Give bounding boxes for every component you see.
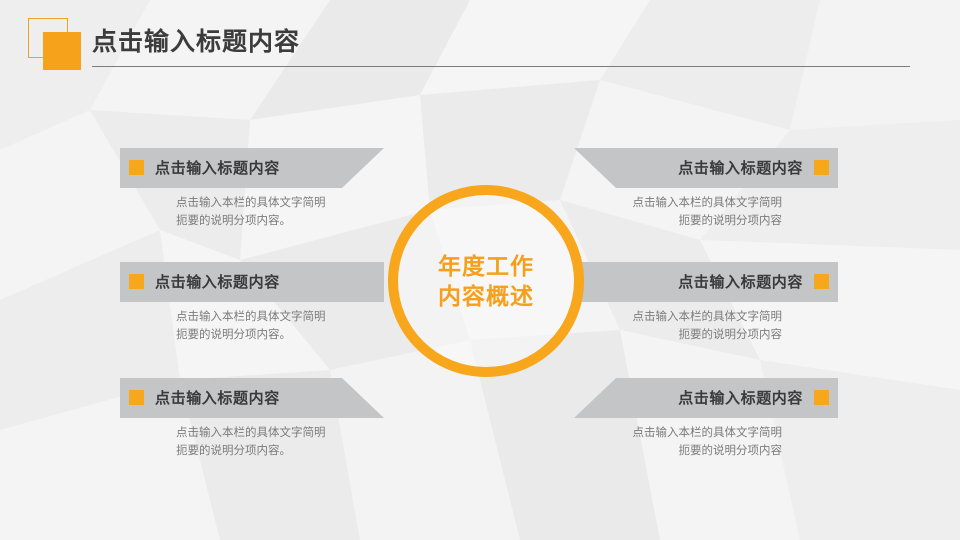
item-bullet-icon (129, 390, 144, 405)
center-circle-badge: 年度工作 内容概述 (388, 185, 584, 377)
item-bar: 点击输入标题内容 (574, 148, 838, 188)
item-description: 点击输入本栏的具体文字简明 扼要的说明分项内容。 (176, 195, 326, 231)
item-description: 点击输入本栏的具体文字简明 扼要的说明分项内容 (633, 195, 783, 231)
item-bar: 点击输入标题内容 (120, 148, 384, 188)
content-item-left-2[interactable]: 点击输入标题内容 点击输入本栏的具体文字简明 扼要的说明分项内容。 (120, 262, 384, 302)
content-item-right-1[interactable]: 点击输入标题内容 点击输入本栏的具体文字简明 扼要的说明分项内容 (574, 148, 838, 188)
item-bullet-icon (129, 274, 144, 289)
header-divider (92, 66, 910, 67)
item-title: 点击输入标题内容 (678, 387, 803, 408)
item-bullet-icon (814, 274, 829, 289)
item-bullet-icon (129, 160, 144, 175)
center-title-line-2: 内容概述 (438, 281, 534, 311)
content-item-right-2[interactable]: 点击输入标题内容 点击输入本栏的具体文字简明 扼要的说明分项内容 (574, 262, 838, 302)
square-filled-icon (43, 32, 81, 70)
item-description: 点击输入本栏的具体文字简明 扼要的说明分项内容。 (176, 425, 326, 461)
content-item-left-1[interactable]: 点击输入标题内容 点击输入本栏的具体文字简明 扼要的说明分项内容。 (120, 148, 384, 188)
content-item-right-3[interactable]: 点击输入标题内容 点击输入本栏的具体文字简明 扼要的说明分项内容 (574, 378, 838, 418)
item-bar: 点击输入标题内容 (574, 378, 838, 418)
item-title: 点击输入标题内容 (678, 157, 803, 178)
item-bar: 点击输入标题内容 (574, 262, 838, 302)
item-description: 点击输入本栏的具体文字简明 扼要的说明分项内容。 (176, 309, 326, 345)
item-title: 点击输入标题内容 (155, 157, 280, 178)
page-title: 点击输入标题内容 (92, 22, 300, 58)
center-title-line-1: 年度工作 (438, 251, 534, 281)
slide-header: 点击输入标题内容 (0, 0, 960, 80)
item-description: 点击输入本栏的具体文字简明 扼要的说明分项内容 (633, 309, 783, 345)
item-description: 点击输入本栏的具体文字简明 扼要的说明分项内容 (633, 425, 783, 461)
item-bar: 点击输入标题内容 (120, 378, 384, 418)
item-bar: 点击输入标题内容 (120, 262, 384, 302)
item-title: 点击输入标题内容 (155, 387, 280, 408)
item-bullet-icon (814, 390, 829, 405)
item-bullet-icon (814, 160, 829, 175)
content-item-left-3[interactable]: 点击输入标题内容 点击输入本栏的具体文字简明 扼要的说明分项内容。 (120, 378, 384, 418)
slide-canvas: 点击输入标题内容 年度工作 内容概述 点击输入标题内容 点击输入本栏的具体文字简… (0, 0, 960, 540)
item-title: 点击输入标题内容 (155, 271, 280, 292)
item-title: 点击输入标题内容 (678, 271, 803, 292)
